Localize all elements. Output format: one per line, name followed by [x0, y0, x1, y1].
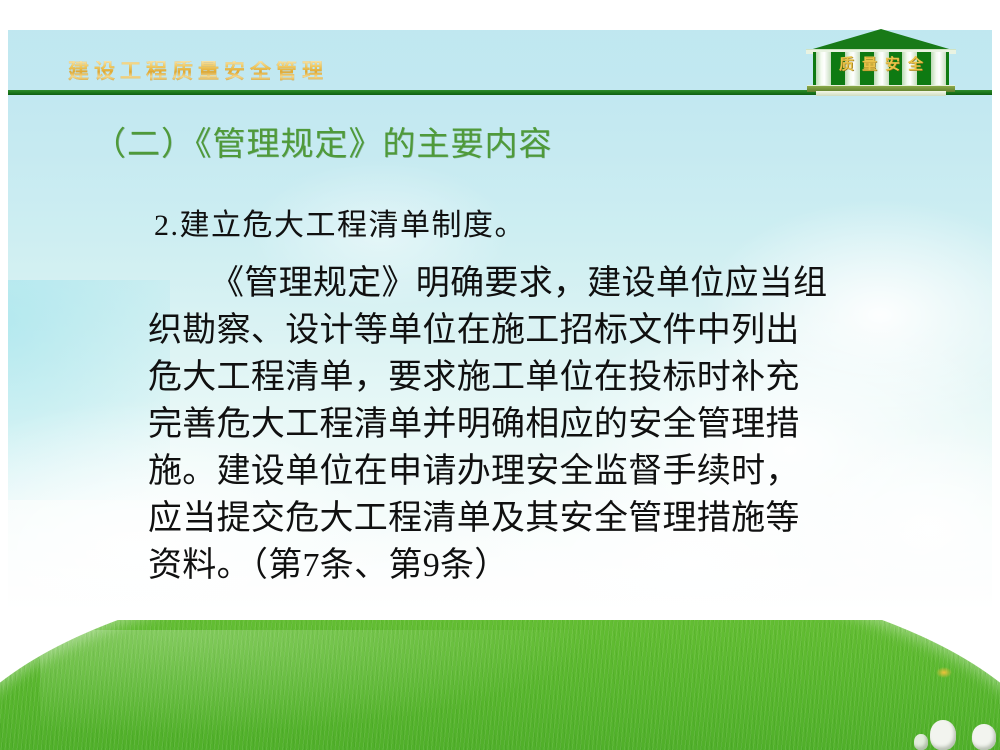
slide-heading: （二）《管理规定》的主要内容	[93, 127, 553, 165]
quality-safety-emblem-logo: 质量安全	[806, 29, 956, 97]
flower-icon	[936, 667, 952, 678]
header-title: 建设工程质量安全管理	[68, 61, 328, 82]
paragraph-line: 应当提交危大工程清单及其安全管理措施等	[148, 495, 938, 542]
sheep-icon	[972, 724, 996, 750]
paragraph-line: 危大工程清单，要求施工单位在投标时补充	[148, 354, 938, 401]
grass-highlight	[40, 630, 660, 750]
slide-body: 2.建立危大工程清单制度。 《管理规定》明确要求，建设单位应当组 织勘察、设计等…	[148, 206, 938, 589]
body-lead-line: 2.建立危大工程清单制度。	[154, 206, 938, 246]
slide-top-margin	[0, 0, 1000, 30]
paragraph-line: 《管理规定》明确要求，建设单位应当组	[148, 260, 938, 307]
emblem-label: 质量安全	[806, 57, 956, 72]
paragraph-line: 完善危大工程清单并明确相应的安全管理措	[148, 401, 938, 448]
temple-pediment-icon	[806, 29, 956, 51]
sheep-icon	[930, 720, 956, 750]
grass-decoration	[0, 620, 1000, 750]
presentation-slide: 建设工程质量安全管理 质量安全 （二）《管理规定》的主要内容 2.建立危大工程清…	[0, 0, 1000, 750]
temple-base-lower	[816, 91, 946, 96]
paragraph-line: 施。建设单位在申请办理安全监督手续时，	[148, 448, 938, 495]
body-paragraph: 《管理规定》明确要求，建设单位应当组 织勘察、设计等单位在施工招标文件中列出 危…	[148, 260, 938, 589]
paragraph-line: 资料。（第7条、第9条）	[148, 542, 938, 589]
paragraph-line: 织勘察、设计等单位在施工招标文件中列出	[148, 307, 938, 354]
sky-left-tint	[0, 280, 170, 500]
sheep-icon	[914, 734, 928, 750]
